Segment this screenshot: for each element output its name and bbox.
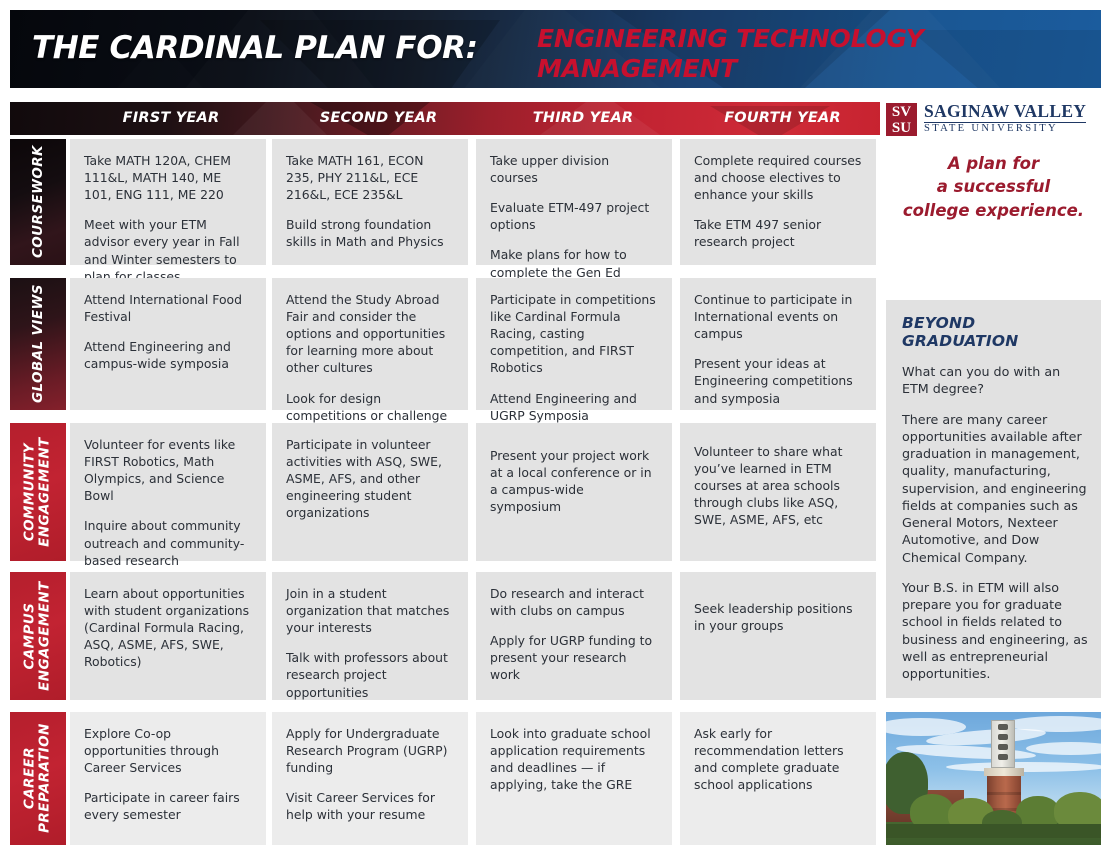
- cell-career-fourth: Ask early for recommendation letters and…: [680, 712, 876, 845]
- cell-campus-second: Join in a student organization that matc…: [272, 572, 468, 700]
- row-label-text: CAMPUS ENGAGEMENT: [23, 581, 53, 691]
- cell-paragraph: Evaluate ETM-497 project options: [490, 199, 658, 233]
- cell-paragraph: Volunteer to share what you’ve learned i…: [694, 443, 862, 529]
- cardinal-plan-poster: THE CARDINAL PLAN FOR: ENGINEERING TECHN…: [0, 0, 1111, 852]
- photo-bell: [998, 744, 1008, 750]
- cell-paragraph: Apply for UGRP funding to present your r…: [490, 632, 658, 683]
- year-header-second: SECOND YEAR: [276, 102, 481, 135]
- cell-paragraph: Volunteer for events like FIRST Robotics…: [84, 436, 252, 504]
- cell-paragraph: Participate in volunteer activities with…: [286, 436, 454, 522]
- photo-bell: [998, 734, 1008, 740]
- cell-paragraph: Take ETM 497 senior research project: [694, 216, 862, 250]
- svsu-logo-mark: SV SU: [886, 103, 917, 136]
- cell-paragraph: Attend the Study Abroad Fair and conside…: [286, 291, 454, 377]
- cell-paragraph: Talk with professors about research proj…: [286, 649, 454, 700]
- photo-hedge: [886, 824, 1101, 838]
- cell-paragraph: Inquire about community outreach and com…: [84, 517, 252, 568]
- cell-paragraph: Take MATH 161, ECON 235, PHY 211&L, ECE …: [286, 152, 454, 203]
- cell-paragraph: Visit Career Services for help with your…: [286, 789, 454, 823]
- cell-paragraph: Ask early for recommendation letters and…: [694, 725, 862, 793]
- logo-mark-line1: SV: [886, 104, 917, 120]
- cell-paragraph: Take MATH 120A, CHEM 111&L, MATH 140, ME…: [84, 152, 252, 203]
- cell-paragraph: Take upper division courses: [490, 152, 658, 186]
- cell-paragraph: Continue to participate in International…: [694, 291, 862, 342]
- banner-title: THE CARDINAL PLAN FOR:: [32, 30, 478, 66]
- row-label-text: COURSEWORK: [30, 146, 45, 259]
- cell-global-views-first: Attend International Food Festival Atten…: [70, 278, 266, 410]
- cell-career-third: Look into graduate school application re…: [476, 712, 672, 845]
- row-label-text: GLOBAL VIEWS: [30, 285, 45, 404]
- cell-community-fourth: Volunteer to share what you’ve learned i…: [680, 423, 876, 561]
- cell-paragraph: Join in a student organization that matc…: [286, 585, 454, 636]
- cell-campus-third: Do research and interact with clubs on c…: [476, 572, 672, 700]
- cell-paragraph: Present your ideas at Engineering compet…: [694, 355, 862, 406]
- cell-paragraph: Look into graduate school application re…: [490, 725, 658, 793]
- beyond-paragraph: Your B.S. in ETM will also prepare you f…: [902, 579, 1088, 683]
- cell-paragraph: Attend Engineering and UGRP Symposia: [490, 390, 658, 424]
- cell-community-third: Present your project work at a local con…: [476, 423, 672, 561]
- row-label-text: CAREER PREPARATION: [23, 724, 53, 834]
- year-header-third: THIRD YEAR: [481, 102, 685, 135]
- cell-paragraph: Complete required courses and choose ele…: [694, 152, 862, 203]
- cell-paragraph: Build strong foundation skills in Math a…: [286, 216, 454, 250]
- year-header-fourth: FOURTH YEAR: [685, 102, 880, 135]
- cell-coursework-third: Take upper division courses Evaluate ETM…: [476, 139, 672, 265]
- cell-paragraph: Seek leadership positions in your groups: [694, 600, 862, 634]
- header-banner: THE CARDINAL PLAN FOR: ENGINEERING TECHN…: [10, 10, 1101, 88]
- row-label-text: COMMUNITY ENGAGEMENT: [23, 437, 53, 547]
- cell-coursework-fourth: Complete required courses and choose ele…: [680, 139, 876, 265]
- logo-mark-line2: SU: [886, 120, 917, 136]
- row-label-coursework: COURSEWORK: [10, 139, 66, 265]
- row-label-campus-engagement: CAMPUS ENGAGEMENT: [10, 572, 66, 700]
- cell-global-views-third: Participate in competitions like Cardina…: [476, 278, 672, 410]
- photo-tower-cap: [984, 768, 1024, 776]
- photo-bell: [998, 754, 1008, 760]
- cell-community-first: Volunteer for events like FIRST Robotics…: [70, 423, 266, 561]
- year-header-bar: FIRST YEAR SECOND YEAR THIRD YEAR FOURTH…: [10, 102, 880, 135]
- beyond-graduation-title: BEYOND GRADUATION: [902, 314, 1088, 350]
- logo-university-name: SAGINAW VALLEY: [924, 103, 1086, 123]
- tagline: A plan for a successful college experien…: [886, 152, 1101, 222]
- cell-global-views-fourth: Continue to participate in International…: [680, 278, 876, 410]
- cell-paragraph: Learn about opportunities with student o…: [84, 585, 252, 671]
- row-label-global-views: GLOBAL VIEWS: [10, 278, 66, 410]
- banner-major-name: ENGINEERING TECHNOLOGY MANAGEMENT: [537, 24, 1007, 83]
- cell-coursework-first: Take MATH 120A, CHEM 111&L, MATH 140, ME…: [70, 139, 266, 265]
- row-label-career-preparation: CAREER PREPARATION: [10, 712, 66, 845]
- cell-coursework-second: Take MATH 161, ECON 235, PHY 211&L, ECE …: [272, 139, 468, 265]
- cell-paragraph: Explore Co-op opportunities through Care…: [84, 725, 252, 776]
- row-label-community-engagement: COMMUNITY ENGAGEMENT: [10, 423, 66, 561]
- cell-community-second: Participate in volunteer activities with…: [272, 423, 468, 561]
- cell-paragraph: Participate in competitions like Cardina…: [490, 291, 658, 377]
- cell-career-first: Explore Co-op opportunities through Care…: [70, 712, 266, 845]
- cell-global-views-second: Attend the Study Abroad Fair and conside…: [272, 278, 468, 410]
- beyond-paragraph: There are many career opportunities avai…: [902, 411, 1088, 566]
- photo-bell: [998, 724, 1008, 730]
- beyond-paragraph: What can you do with an ETM degree?: [902, 363, 1088, 398]
- cell-campus-fourth: Seek leadership positions in your groups: [680, 572, 876, 700]
- cell-paragraph: Meet with your ETM advisor every year in…: [84, 216, 252, 284]
- cell-paragraph: Participate in career fairs every semest…: [84, 789, 252, 823]
- logo-university-sub: STATE UNIVERSITY: [924, 124, 1086, 135]
- cell-paragraph: Present your project work at a local con…: [490, 447, 658, 515]
- beyond-graduation-panel: BEYOND GRADUATION What can you do with a…: [886, 300, 1101, 698]
- cell-paragraph: Attend Engineering and campus-wide sympo…: [84, 338, 252, 372]
- campus-photo: [886, 712, 1101, 845]
- svsu-logo: SV SU SAGINAW VALLEY STATE UNIVERSITY: [886, 100, 1101, 138]
- photo-tower-band: [987, 792, 1021, 795]
- year-header-first: FIRST YEAR: [66, 102, 276, 135]
- cell-campus-first: Learn about opportunities with student o…: [70, 572, 266, 700]
- cell-paragraph: Attend International Food Festival: [84, 291, 252, 325]
- cell-paragraph: Apply for Undergraduate Research Program…: [286, 725, 454, 776]
- cell-paragraph: Do research and interact with clubs on c…: [490, 585, 658, 619]
- svsu-logo-text: SAGINAW VALLEY STATE UNIVERSITY: [924, 103, 1086, 135]
- cell-career-second: Apply for Undergraduate Research Program…: [272, 712, 468, 845]
